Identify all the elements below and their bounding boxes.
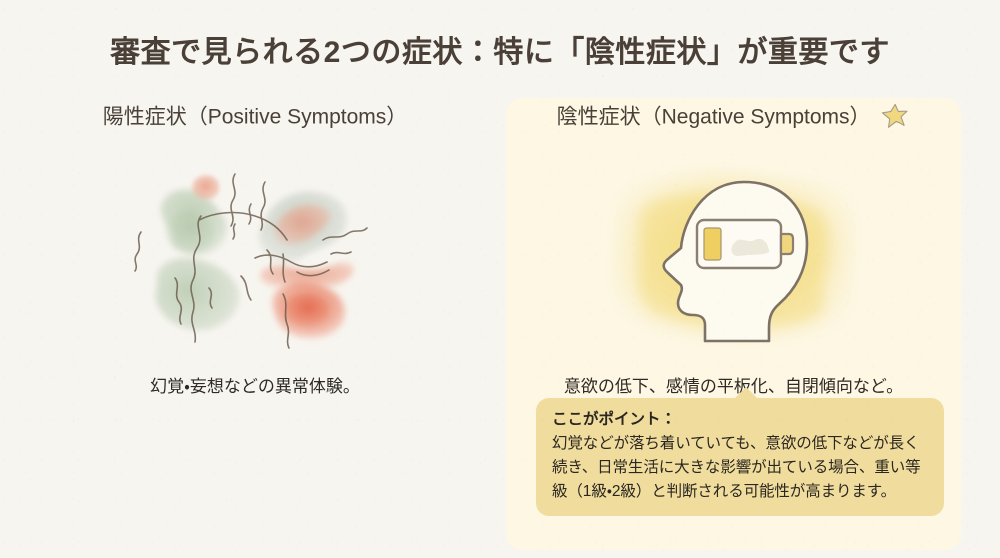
positive-symptoms-heading: 陽性症状（Positive Symptoms） (20, 100, 490, 134)
positive-symptoms-caption: 幻覚・妄想などの異常体験。 (20, 372, 490, 397)
page-title: 審査で見られる2つの症状：特に「陰性症状」が重要です (0, 27, 1000, 71)
positive-symptoms-column: 陽性症状（Positive Symptoms） (20, 100, 490, 397)
negative-symptoms-heading-label: 陰性症状（Negative Symptoms） (557, 105, 871, 128)
abstract-watercolor-blobs-icon (115, 158, 395, 353)
positive-symptoms-illustration (20, 158, 490, 358)
negative-symptoms-illustration (506, 158, 961, 358)
head-with-low-battery-icon (589, 158, 879, 353)
negative-symptoms-heading: 陰性症状（Negative Symptoms） (506, 100, 961, 134)
key-point-callout: ここがポイント： 幻覚などが落ち着いていても、意欲の低下などが長く続き、日常生活… (536, 398, 944, 516)
star-icon (880, 101, 910, 131)
callout-title: ここがポイント： (552, 409, 928, 431)
positive-symptoms-heading-label: 陽性症状（Positive Symptoms） (103, 105, 408, 128)
callout-arrow-icon (734, 387, 758, 399)
negative-symptoms-column: 陰性症状（Negative Symptoms） (506, 100, 961, 397)
callout-body: 幻覚などが落ち着いていても、意欲の低下などが長く続き、日常生活に大きな影響が出て… (552, 432, 928, 503)
